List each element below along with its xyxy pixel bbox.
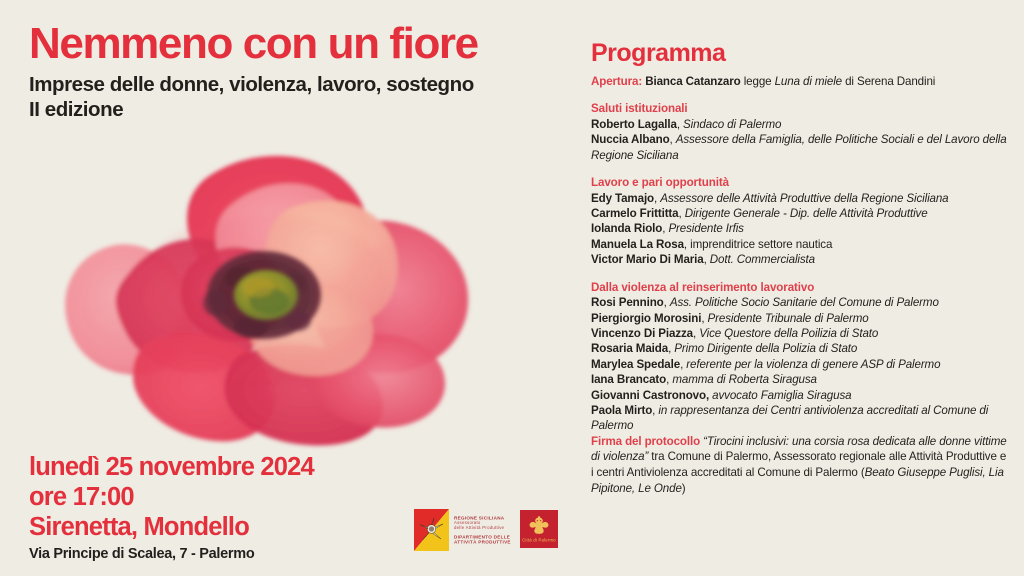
entry-name: Manuela La Rosa bbox=[591, 238, 684, 251]
regione-line-5: ATTIVITÀ PRODUTTIVE bbox=[454, 539, 511, 545]
entry-name: Iolanda Riolo bbox=[591, 222, 662, 235]
programme-entry: Roberto Lagalla, Sindaco di Palermo bbox=[591, 117, 1009, 132]
firma-close: ) bbox=[682, 482, 686, 495]
poster-canvas: Nemmeno con un fiore Imprese delle donne… bbox=[0, 0, 1024, 576]
left-column: Nemmeno con un fiore Imprese delle donne… bbox=[0, 0, 575, 576]
trinacria-icon bbox=[414, 509, 449, 551]
apertura-work: Luna di miele bbox=[775, 75, 842, 88]
event-date: lunedì 25 novembre 2024 bbox=[29, 452, 314, 482]
programme-firma: Firma del protocollo “Tirocini inclusivi… bbox=[591, 434, 1009, 496]
entry-role: avvocato Famiglia Siragusa bbox=[712, 389, 851, 402]
firma-label: Firma del protocollo bbox=[591, 435, 700, 448]
programme-section: Lavoro e pari opportunitàEdy Tamajo, Ass… bbox=[591, 175, 1009, 268]
eagle-crest-icon bbox=[528, 516, 550, 536]
programme-entry: Rosi Pennino, Ass. Politiche Socio Sanit… bbox=[591, 295, 1009, 310]
programme-entry: Victor Mario Di Maria, Dott. Commerciali… bbox=[591, 252, 1009, 267]
entry-role: referente per la violenza di genere ASP … bbox=[686, 358, 940, 371]
entry-name: Rosaria Maida bbox=[591, 342, 668, 355]
apertura-line: Apertura: Bianca Catanzaro legge Luna di… bbox=[591, 74, 1009, 89]
apertura-label: Apertura: bbox=[591, 75, 642, 88]
entry-role: Sindaco di Palermo bbox=[683, 118, 781, 131]
section-heading: Dalla violenza al reinserimento lavorati… bbox=[591, 280, 1009, 296]
entry-name: Nuccia Albano bbox=[591, 133, 670, 146]
entry-name: Victor Mario Di Maria bbox=[591, 253, 704, 266]
entry-role: Ass. Politiche Socio Sanitarie del Comun… bbox=[670, 296, 939, 309]
programme-sections: Saluti istituzionaliRoberto Lagalla, Sin… bbox=[591, 101, 1009, 433]
logo-strip: REGIONE SICILIANA Assessorato delle Atti… bbox=[414, 509, 558, 551]
programme-entry: Giovanni Castronovo, avvocato Famiglia S… bbox=[591, 388, 1009, 403]
apertura-verb: legge bbox=[744, 75, 772, 88]
entry-role: mamma di Roberta Siragusa bbox=[672, 373, 817, 386]
section-heading: Saluti istituzionali bbox=[591, 101, 1009, 117]
programme-entry: Vincenzo Di Piazza, Vice Questore della … bbox=[591, 326, 1009, 341]
entry-name: Piergiorgio Morosini bbox=[591, 312, 701, 325]
event-time: ore 17:00 bbox=[29, 482, 314, 512]
event-venue: Sirenetta, Mondello bbox=[29, 512, 314, 543]
entry-role: Assessore delle Attività Produttive dell… bbox=[660, 192, 948, 205]
poster-title: Nemmeno con un fiore bbox=[29, 19, 478, 69]
entry-role: Vice Questore della Poilizia di Stato bbox=[699, 327, 878, 340]
entry-name: Marylea Spedale bbox=[591, 358, 680, 371]
entry-role: imprenditrice settore nautica bbox=[690, 238, 832, 251]
event-details: lunedì 25 novembre 2024 ore 17:00 Sirene… bbox=[29, 452, 314, 563]
apertura-reader: Bianca Catanzaro bbox=[645, 75, 740, 88]
entry-role: Dirigente Generale - Dip. delle Attività… bbox=[685, 207, 928, 220]
entry-name: Iana Brancato bbox=[591, 373, 666, 386]
subtitle-line-1: Imprese delle donne, violenza, lavoro, s… bbox=[29, 73, 474, 96]
section-heading: Lavoro e pari opportunità bbox=[591, 175, 1009, 191]
entry-role: Presidente Irfis bbox=[668, 222, 743, 235]
entry-role: Presidente Tribunale di Palermo bbox=[708, 312, 869, 325]
programme-entry: Nuccia Albano, Assessore della Famiglia,… bbox=[591, 132, 1009, 163]
programme-entry: Carmelo Frittitta, Dirigente Generale - … bbox=[591, 206, 1009, 221]
logo-regione-siciliana: REGIONE SICILIANA Assessorato delle Atti… bbox=[414, 509, 502, 551]
firma-paragraph: Firma del protocollo “Tirocini inclusivi… bbox=[591, 434, 1009, 496]
programme-entry: Iana Brancato, mamma di Roberta Siragusa bbox=[591, 372, 1009, 387]
poppy-flower-illustration bbox=[55, 115, 485, 455]
programme-entry: Rosaria Maida, Primo Dirigente della Pol… bbox=[591, 341, 1009, 356]
programme-entry: Iolanda Riolo, Presidente Irfis bbox=[591, 221, 1009, 236]
entry-name: Roberto Lagalla bbox=[591, 118, 677, 131]
entry-name: Paola Mirto bbox=[591, 404, 652, 417]
entry-name: Edy Tamajo bbox=[591, 192, 654, 205]
logo-citta-di-palermo: Città di Palermo bbox=[520, 510, 558, 548]
comune-logo-label: Città di Palermo bbox=[522, 537, 556, 542]
event-address: Via Principe di Scalea, 7 - Palermo bbox=[29, 545, 314, 563]
entry-name: Vincenzo Di Piazza bbox=[591, 327, 693, 340]
regione-logo-text: REGIONE SICILIANA Assessorato delle Atti… bbox=[454, 515, 502, 544]
programme-entry: Paola Mirto, in rappresentanza dei Centr… bbox=[591, 403, 1009, 434]
entry-role: Dott. Commercialista bbox=[710, 253, 815, 266]
programme-entry: Piergiorgio Morosini, Presidente Tribuna… bbox=[591, 311, 1009, 326]
programme-entry: Edy Tamajo, Assessore delle Attività Pro… bbox=[591, 191, 1009, 206]
right-column: Programma Apertura: Bianca Catanzaro leg… bbox=[591, 0, 1011, 576]
programme-heading: Programma bbox=[591, 39, 725, 68]
programme-entry: Manuela La Rosa, imprenditrice settore n… bbox=[591, 237, 1009, 252]
apertura-author: di Serena Dandini bbox=[845, 75, 935, 88]
programme-body: Apertura: Bianca Catanzaro legge Luna di… bbox=[591, 74, 1009, 496]
programme-section: Dalla violenza al reinserimento lavorati… bbox=[591, 280, 1009, 434]
programme-section: Saluti istituzionaliRoberto Lagalla, Sin… bbox=[591, 101, 1009, 163]
entry-name: Rosi Pennino bbox=[591, 296, 664, 309]
entry-role: Primo Dirigente della Polizia di Stato bbox=[674, 342, 857, 355]
programme-apertura: Apertura: Bianca Catanzaro legge Luna di… bbox=[591, 74, 1009, 89]
programme-entry: Marylea Spedale, referente per la violen… bbox=[591, 357, 1009, 372]
entry-name: Giovanni Castronovo, bbox=[591, 389, 709, 402]
entry-name: Carmelo Frittitta bbox=[591, 207, 679, 220]
